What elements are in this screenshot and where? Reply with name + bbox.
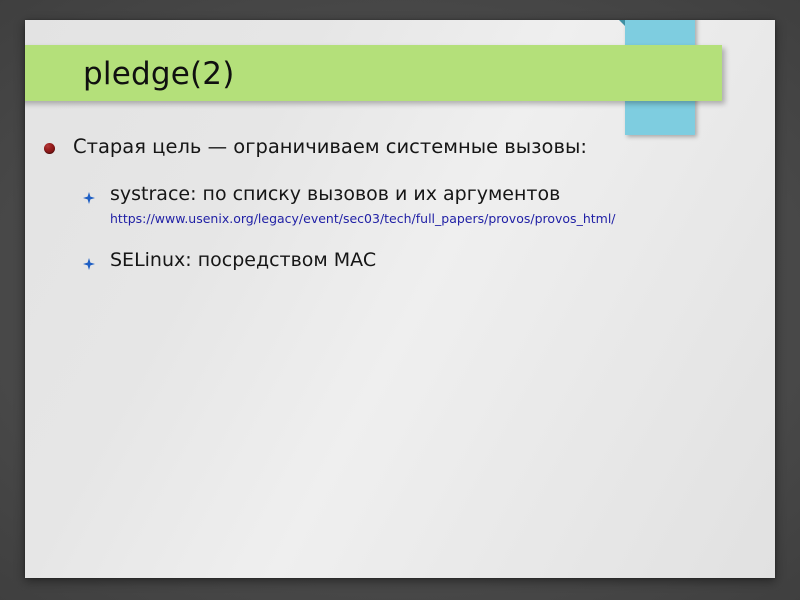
bullet-item-level2-selinux-text: SELinux: посредством MAC	[110, 249, 376, 271]
decorative-blue-fold-icon	[611, 20, 625, 26]
bullet-item-level2-selinux: SELinux: посредством MAC	[25, 246, 775, 274]
slide-canvas: pledge(2) Старая цель — ограничиваем сис…	[25, 20, 775, 578]
reference-link[interactable]: https://www.usenix.org/legacy/event/sec0…	[110, 209, 775, 228]
slide-body: Старая цель — ограничиваем системные выз…	[25, 132, 775, 274]
slide-title: pledge(2)	[83, 56, 235, 92]
red-sphere-bullet-icon	[44, 143, 55, 154]
bullet-item-level1: Старая цель — ограничиваем системные выз…	[25, 132, 775, 162]
bullet-item-level2-systrace-text: systrace: по списку вызовов и их аргумен…	[110, 183, 560, 205]
bullet-item-level2-systrace: systrace: по списку вызовов и их аргумен…	[25, 180, 775, 228]
bullet-item-level1-text: Старая цель — ограничиваем системные выз…	[73, 135, 587, 158]
blue-star-bullet-icon	[83, 255, 95, 267]
blue-star-bullet-icon	[83, 189, 95, 201]
